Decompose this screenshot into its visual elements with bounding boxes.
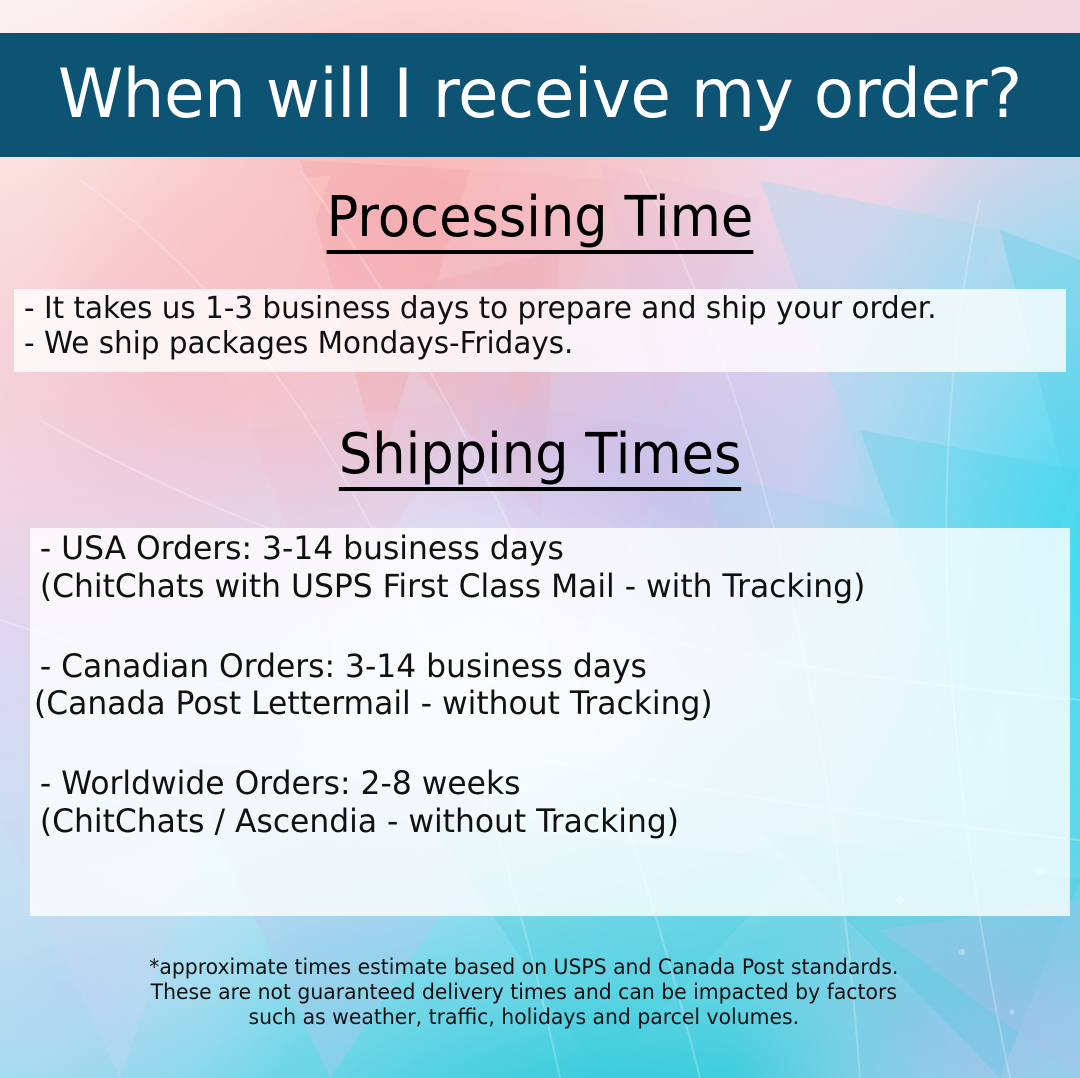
footnote-disclaimer: *approximate times estimate based on USP…: [0, 955, 1080, 1029]
section-heading-processing-time-label: Processing Time: [327, 190, 754, 254]
processing-line-1: - It takes us 1-3 business days to prepa…: [24, 291, 937, 326]
section-heading-shipping-times: Shipping Times: [0, 427, 1080, 491]
shipping-group-canada: - Canadian Orders: 3-14 business days (C…: [34, 648, 882, 724]
shipping-group-worldwide: - Worldwide Orders: 2-8 weeks (ChitChats…: [34, 765, 882, 841]
shipping-info-poster: When will I receive my order? Processing…: [0, 0, 1080, 1078]
section-heading-processing-time: Processing Time: [0, 190, 1080, 254]
worldwide-orders-carrier: (ChitChats / Ascendia - without Tracking…: [34, 803, 865, 841]
footnote-line-1: *approximate times estimate based on USP…: [0, 955, 1048, 980]
canadian-orders-duration: - Canadian Orders: 3-14 business days: [34, 648, 865, 686]
processing-time-lines: - It takes us 1-3 business days to prepa…: [24, 291, 955, 362]
footnote-line-2: These are not guaranteed delivery times …: [0, 980, 1048, 1005]
usa-orders-carrier: (ChitChats with USPS First Class Mail - …: [34, 568, 865, 606]
section-heading-shipping-times-label: Shipping Times: [339, 427, 742, 491]
shipping-times-lines: - USA Orders: 3-14 business days (ChitCh…: [34, 530, 882, 841]
worldwide-orders-duration: - Worldwide Orders: 2-8 weeks: [34, 765, 865, 803]
shipping-group-usa: - USA Orders: 3-14 business days (ChitCh…: [34, 530, 882, 606]
usa-orders-duration: - USA Orders: 3-14 business days: [34, 530, 865, 568]
footnote-line-3: such as weather, traffic, holidays and p…: [0, 1005, 1048, 1030]
processing-line-2: - We ship packages Mondays-Fridays.: [24, 326, 937, 361]
poster-content: Processing Time - It takes us 1-3 busine…: [0, 0, 1080, 1078]
canadian-orders-carrier: (Canada Post Lettermail - without Tracki…: [34, 685, 865, 723]
